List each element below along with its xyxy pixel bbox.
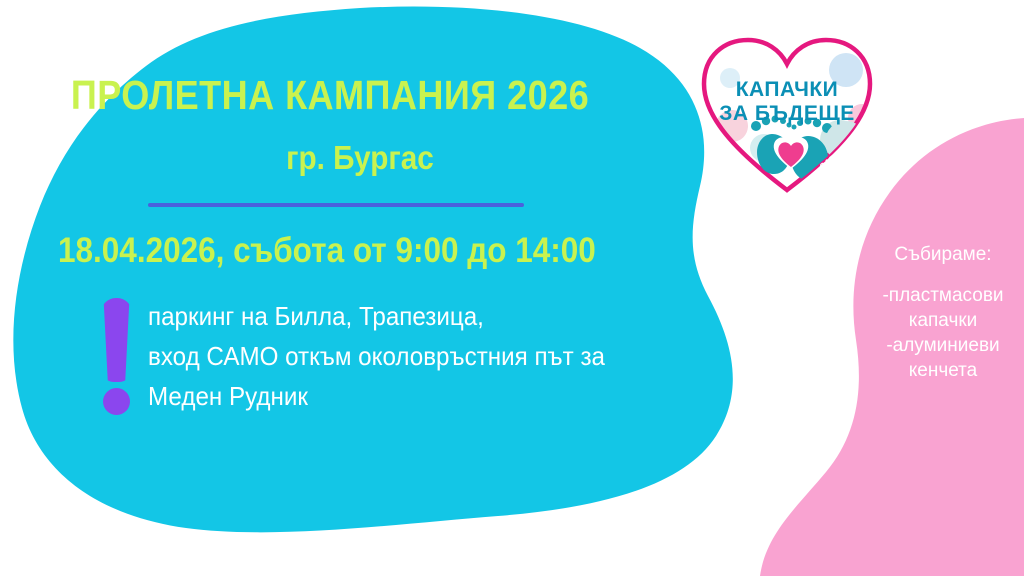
zaedno-badge: [825, 121, 867, 163]
address-line-3: Меден Рудник: [148, 376, 605, 416]
collect-item-4: кенчета: [855, 358, 1024, 383]
logo-line-2: ЗА БЪДЕЩЕ: [694, 102, 880, 126]
poster-canvas: ПРОЛЕТНА КАМПАНИЯ 2026 гр. Бургас 18.04.…: [0, 0, 1024, 576]
collect-list: Събираме: -пластмасови капачки -алуминие…: [855, 242, 1024, 383]
city-subtitle: гр. Бургас: [36, 140, 684, 176]
exclamation-icon: [100, 298, 134, 416]
collect-item-2: капачки: [855, 308, 1024, 333]
organization-logo: КАПАЧКИ ЗА БЪДЕЩЕ ЗАЕДНО можем повече: [694, 22, 880, 198]
collect-title: Събираме:: [855, 242, 1024, 267]
address-line-2: вход САМО откъм околовръстния път за: [148, 336, 605, 376]
exclamation-dot: [103, 388, 130, 415]
collect-item-3: -алуминиеви: [855, 333, 1024, 358]
venue-address: паркинг на Билла, Трапезица, вход САМО о…: [148, 296, 605, 416]
poster-content: ПРОЛЕТНА КАМПАНИЯ 2026 гр. Бургас 18.04.…: [0, 0, 720, 576]
collect-item-1: -пластмасови: [855, 283, 1024, 308]
event-datetime: 18.04.2026, събота от 9:00 до 14:00: [58, 231, 596, 271]
logo-line-1: КАПАЧКИ: [694, 78, 880, 102]
address-line-1: паркинг на Билла, Трапезица,: [148, 296, 605, 336]
divider: [148, 203, 524, 207]
exclamation-bar: [101, 298, 132, 382]
page-title: ПРОЛЕТНА КАМПАНИЯ 2026: [40, 74, 621, 117]
